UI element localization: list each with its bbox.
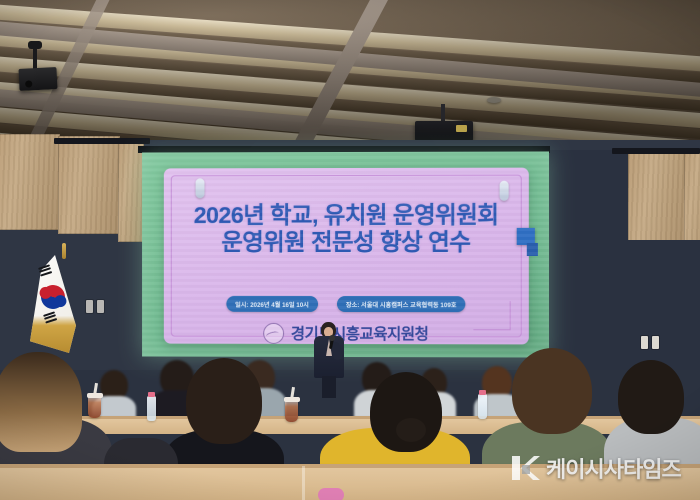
wall-wood-panel-right [628,152,688,242]
drink-cup [88,396,101,418]
wall-wood-panel-left [118,142,144,242]
photo-scene: 2026년 학교, 유치원 운영위원회 운영위원 전문성 향상 연수 일시: 2… [0,0,700,500]
water-bottle [147,396,156,421]
cup-lid [284,397,300,402]
slide-title-line1: 2026년 학교, 유치원 운영위원회 [164,202,529,230]
wall-light-switch[interactable] [652,336,659,349]
audience-head [512,348,592,434]
slide-info-pills: 일시: 2026년 4월 16일 10시 장소: 서울대 시흥캠퍼스 교육협력동… [164,296,529,312]
hair-bun [396,418,426,442]
wall-column-right [548,150,628,370]
watermark: 케이시사타임즈 [510,452,681,484]
presenter-legs [322,376,336,398]
desk-item-pink [318,488,344,500]
slide-card: 2026년 학교, 유치원 운영위원회 운영위원 전문성 향상 연수 일시: 2… [164,168,529,345]
slide-title: 2026년 학교, 유치원 운영위원회 운영위원 전문성 향상 연수 [164,202,529,257]
speaker-mount [33,46,37,70]
smoke-detector [487,97,501,103]
education-office-emblem-icon [263,322,284,343]
ceiling [0,0,700,152]
desk-edge [0,416,700,419]
projector-lens [456,125,467,132]
ceiling-speaker [18,67,57,91]
wall-wood-panel-right [684,150,700,242]
wall-wood-panel-left [0,134,60,230]
curtain-rail [54,138,150,144]
slide-pill-location: 장소: 서울대 시흥캠퍼스 교육협력동 109호 [337,296,466,312]
presenter [314,322,344,396]
ceiling-projector [415,121,473,141]
watermark-logo-icon [510,453,540,483]
korean-national-flag [26,247,78,362]
audience-head [0,352,82,452]
wall-lower-right [624,240,700,370]
pin-icon [196,178,205,198]
wall-light-switch[interactable] [86,300,93,313]
slide-organization-name: 경기도시흥교육지원청 [291,322,429,344]
desk-seam [302,466,305,500]
watermark-text: 케이시사타임즈 [546,452,681,484]
wall-light-switch[interactable] [641,336,648,349]
slide-organization-row: 경기도시흥교육지원청 [164,322,529,345]
curtain-rail [612,148,700,154]
audience-head [186,358,262,444]
water-bottle [478,394,487,419]
audience-head [618,360,684,434]
bottle-cap [479,390,486,395]
flag-pole [62,243,66,259]
projector-mount [441,104,445,122]
slide-pill-datetime: 일시: 2026년 4월 16일 10시 [226,296,318,312]
projection-screen: 2026년 학교, 유치원 운영위원회 운영위원 전문성 향상 연수 일시: 2… [142,151,549,357]
slide-title-line2: 운영위원 전문성 향상 연수 [164,229,529,257]
wall-wood-panel-left [58,136,120,234]
pin-icon [500,181,509,201]
wall-light-switch[interactable] [97,300,104,313]
bottle-cap [148,392,155,397]
drink-cup [285,400,298,422]
cup-lid [87,393,103,398]
